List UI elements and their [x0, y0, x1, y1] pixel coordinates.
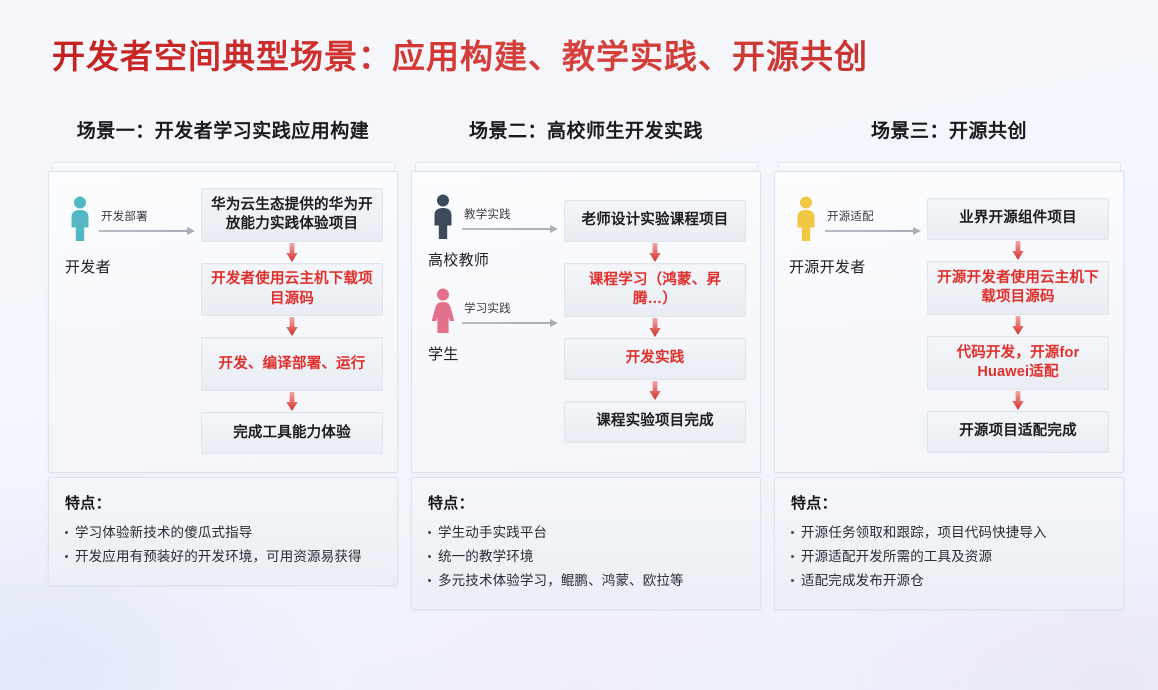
feature-item-text: 适配完成发布开源仓 [801, 570, 924, 592]
feature-title: 特点： [791, 492, 1107, 513]
feature-item-text: 学生动手实践平台 [438, 522, 547, 544]
feature-item-text: 开源任务领取和跟踪，项目代码快捷导入 [801, 522, 1047, 544]
horizontal-arrow-icon [462, 225, 558, 233]
down-arrow-icon [564, 242, 746, 263]
horizontal-arrow-icon [462, 319, 558, 327]
actor-label-open-source-developer: 开源开发者 [789, 256, 921, 277]
person-male-icon [789, 196, 823, 242]
flow-node: 代码开发，开源for Huawei适配 [927, 336, 1109, 390]
scenario-2-actors: 教学实践 高校教师 [426, 188, 558, 454]
down-arrow-icon [927, 390, 1109, 411]
feature-item: 多元技术体验学习，鲲鹏、鸿蒙、欧拉等 [428, 570, 744, 592]
actor-label-developer: 开发者 [65, 256, 195, 277]
feature-item-text: 开发应用有预装好的开发环境，可用资源易获得 [75, 546, 362, 568]
feature-item-text: 学习体验新技术的傻瓜式指导 [75, 522, 252, 544]
feature-panel-3: 特点： 开源任务领取和跟踪，项目代码快捷导入 开源适配开发所需的工具及资源 适配… [774, 477, 1124, 610]
bullet-icon [428, 531, 431, 534]
down-arrow-icon [201, 391, 383, 412]
flow-node: 开源开发者使用云主机下载项目源码 [927, 261, 1109, 315]
panel-lid [52, 162, 395, 171]
flow-node: 老师设计实验课程项目 [564, 200, 746, 242]
bullet-icon [791, 555, 794, 558]
feature-item-text: 统一的教学环境 [438, 546, 534, 568]
flow-node: 开源项目适配完成 [927, 411, 1109, 453]
feature-title: 特点： [428, 492, 744, 513]
scenario-1-actors: 开发部署 开发者 [63, 188, 195, 454]
actor-label-teacher: 高校教师 [428, 249, 558, 270]
bullet-icon [65, 555, 68, 558]
bullet-icon [791, 531, 794, 534]
scenario-column-3: 场景三：开源共创 开源适配 [774, 118, 1124, 473]
feature-item-text: 开源适配开发所需的工具及资源 [801, 546, 992, 568]
down-arrow-icon [927, 315, 1109, 336]
scenario-2-chain: 老师设计实验课程项目 课程学习（鸿蒙、昇腾…） 开发实践 课程实验项目完成 [564, 188, 746, 454]
actor-student: 学习实践 学生 [426, 288, 558, 364]
panel-lid [778, 162, 1121, 171]
bullet-icon [65, 531, 68, 534]
feature-item: 开源任务领取和跟踪，项目代码快捷导入 [791, 522, 1107, 544]
arrow-label-2-1: 教学实践 [464, 206, 558, 222]
scenario-column-2: 场景二：高校师生开发实践 教学实践 [411, 118, 761, 473]
feature-item: 学生动手实践平台 [428, 522, 744, 544]
scenario-3-chain: 业界开源组件项目 开源开发者使用云主机下载项目源码 代码开发，开源for Hua… [927, 188, 1109, 454]
feature-item: 开源适配开发所需的工具及资源 [791, 546, 1107, 568]
actor-developer: 开发部署 开发者 [63, 196, 195, 277]
flow-node: 华为云生态提供的华为开放能力实践体验项目 [201, 188, 383, 242]
feature-item-text: 多元技术体验学习，鲲鹏、鸿蒙、欧拉等 [438, 570, 684, 592]
bullet-icon [428, 555, 431, 558]
actor-label-student: 学生 [428, 343, 558, 364]
down-arrow-icon [927, 240, 1109, 261]
scenario-3-actors: 开源适配 开源开发者 [789, 188, 921, 454]
person-male-icon [426, 194, 460, 240]
down-arrow-icon [564, 380, 746, 401]
horizontal-arrow-icon [99, 227, 195, 235]
scenario-1-flow-panel: 开发部署 开发者 华为云生态提供的华为开放能力实践体验项目 开发者使用云主机下载… [48, 171, 398, 473]
down-arrow-icon [564, 317, 746, 338]
scenario-3-flow-panel: 开源适配 开源开发者 业界开源组件项目 开源开发者使用云主机下载项目源码 [774, 171, 1124, 473]
bullet-icon [428, 579, 431, 582]
feature-item: 开发应用有预装好的开发环境，可用资源易获得 [65, 546, 381, 568]
flow-node: 开发、编译部署、运行 [201, 337, 383, 391]
scenario-2-heading: 场景二：高校师生开发实践 [411, 118, 761, 146]
person-female-icon [426, 288, 460, 334]
feature-title: 特点： [65, 492, 381, 513]
feature-panel-1: 特点： 学习体验新技术的傻瓜式指导 开发应用有预装好的开发环境，可用资源易获得 [48, 477, 398, 586]
arrow-label-2-2: 学习实践 [464, 300, 558, 316]
down-arrow-icon [201, 242, 383, 263]
page-title: 开发者空间典型场景：应用构建、教学实践、开源共创 [52, 30, 868, 78]
flow-node: 课程学习（鸿蒙、昇腾…） [564, 263, 746, 317]
actor-open-source-developer: 开源适配 开源开发者 [789, 196, 921, 277]
feature-item: 学习体验新技术的傻瓜式指导 [65, 522, 381, 544]
scenario-1-heading: 场景一：开发者学习实践应用构建 [48, 118, 398, 146]
feature-item: 统一的教学环境 [428, 546, 744, 568]
person-male-icon [63, 196, 97, 242]
down-arrow-icon [201, 316, 383, 337]
feature-panel-2: 特点： 学生动手实践平台 统一的教学环境 多元技术体验学习，鲲鹏、鸿蒙、欧拉等 [411, 477, 761, 610]
panel-lid [415, 162, 758, 171]
arrow-label-3-1: 开源适配 [827, 208, 921, 224]
actor-teacher: 教学实践 高校教师 [426, 194, 558, 270]
scenario-1-chain: 华为云生态提供的华为开放能力实践体验项目 开发者使用云主机下载项目源码 开发、编… [201, 188, 383, 454]
scenario-2-flow-panel: 教学实践 高校教师 [411, 171, 761, 473]
slide-canvas: 开发者空间典型场景：应用构建、教学实践、开源共创 场景一：开发者学习实践应用构建 [0, 0, 1158, 690]
scenario-3-heading: 场景三：开源共创 [774, 118, 1124, 146]
flow-node: 开发实践 [564, 338, 746, 380]
flow-node: 完成工具能力体验 [201, 412, 383, 454]
flow-node: 课程实验项目完成 [564, 401, 746, 443]
scenario-column-1: 场景一：开发者学习实践应用构建 开发部署 [48, 118, 398, 473]
feature-item: 适配完成发布开源仓 [791, 570, 1107, 592]
arrow-label-1-1: 开发部署 [101, 208, 195, 224]
flow-node: 开发者使用云主机下载项目源码 [201, 263, 383, 317]
bullet-icon [791, 579, 794, 582]
horizontal-arrow-icon [825, 227, 921, 235]
flow-node: 业界开源组件项目 [927, 198, 1109, 240]
